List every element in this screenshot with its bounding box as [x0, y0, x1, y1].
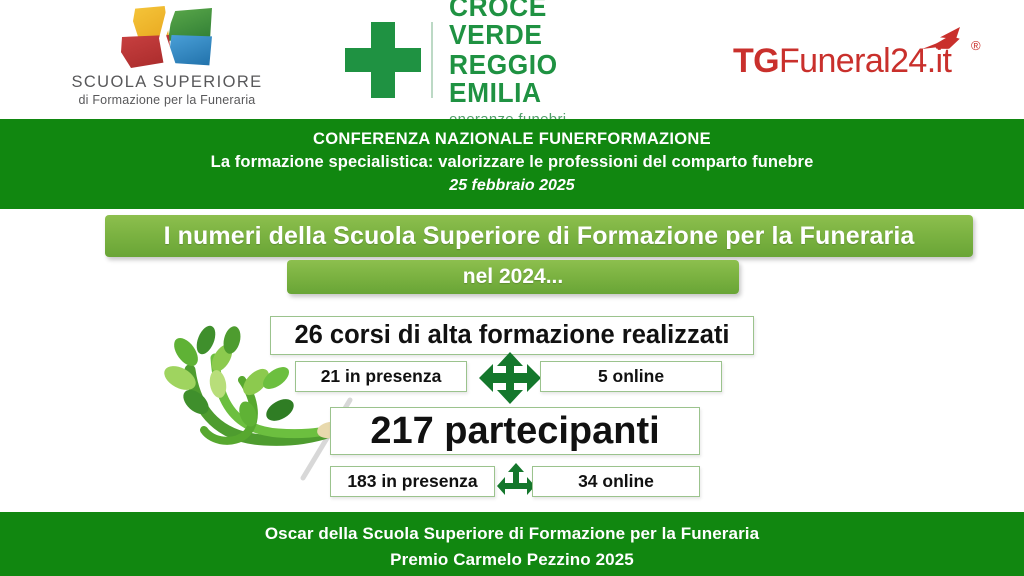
scuola-superiore-mark-icon: [121, 6, 213, 68]
green-cross-icon: [345, 22, 421, 98]
logo-tgfuneral24-text: TGFuneral24.it: [733, 42, 951, 81]
conference-subtitle: La formazione specialistica: valorizzare…: [0, 151, 1024, 174]
award-subtitle: Premio Carmelo Pezzino 2025: [0, 547, 1024, 573]
stat-courses-total: 26 corsi di alta formazione realizzati: [270, 316, 754, 355]
logo-divider: [431, 22, 433, 98]
three-way-arrow-icon: [497, 463, 535, 499]
logo-tg-prefix: TG: [733, 42, 779, 80]
logo-croce-text: CROCE VERDE REGGIO EMILIA onoranze funeb…: [449, 0, 645, 127]
logo-header-strip: SCUOLA SUPERIORE di Formazione per la Fu…: [0, 0, 1024, 118]
stat-participants-total: 217 partecipanti: [330, 407, 700, 455]
slide-title-primary: I numeri della Scuola Superiore di Forma…: [105, 215, 973, 257]
presentation-slide: SCUOLA SUPERIORE di Formazione per la Fu…: [0, 0, 1024, 576]
stat-courses-in-person: 21 in presenza: [295, 361, 467, 392]
conference-date: 25 febbraio 2025: [0, 175, 1024, 198]
logo-croce-verde: CROCE VERDE REGGIO EMILIA onoranze funeb…: [345, 14, 645, 106]
registered-trademark-icon: ®: [971, 38, 981, 53]
conference-title: CONFERENZA NAZIONALE FUNERFORMAZIONE: [0, 128, 1024, 151]
logo-croce-line1: CROCE VERDE: [449, 0, 633, 49]
logo-scuola-superiore: SCUOLA SUPERIORE di Formazione per la Fu…: [42, 6, 292, 112]
award-title: Oscar della Scuola Superiore di Formazio…: [0, 521, 1024, 547]
slide-title-secondary: nel 2024...: [287, 260, 739, 294]
stat-participants-online: 34 online: [532, 466, 700, 497]
conference-banner: CONFERENZA NAZIONALE FUNERFORMAZIONE La …: [0, 119, 1024, 209]
logo-croce-line2: REGGIO EMILIA: [449, 51, 633, 107]
four-way-arrow-icon: [479, 352, 541, 404]
bird-swoosh-icon: [922, 26, 960, 52]
logo-scuola-title: SCUOLA SUPERIORE: [71, 73, 262, 92]
stat-courses-online: 5 online: [540, 361, 722, 392]
logo-tgfuneral24: TGFuneral24.it ®: [733, 26, 998, 88]
award-banner: Oscar della Scuola Superiore di Formazio…: [0, 512, 1024, 576]
stat-participants-in-person: 183 in presenza: [330, 466, 495, 497]
logo-scuola-subtitle: di Formazione per la Funeraria: [79, 93, 256, 107]
